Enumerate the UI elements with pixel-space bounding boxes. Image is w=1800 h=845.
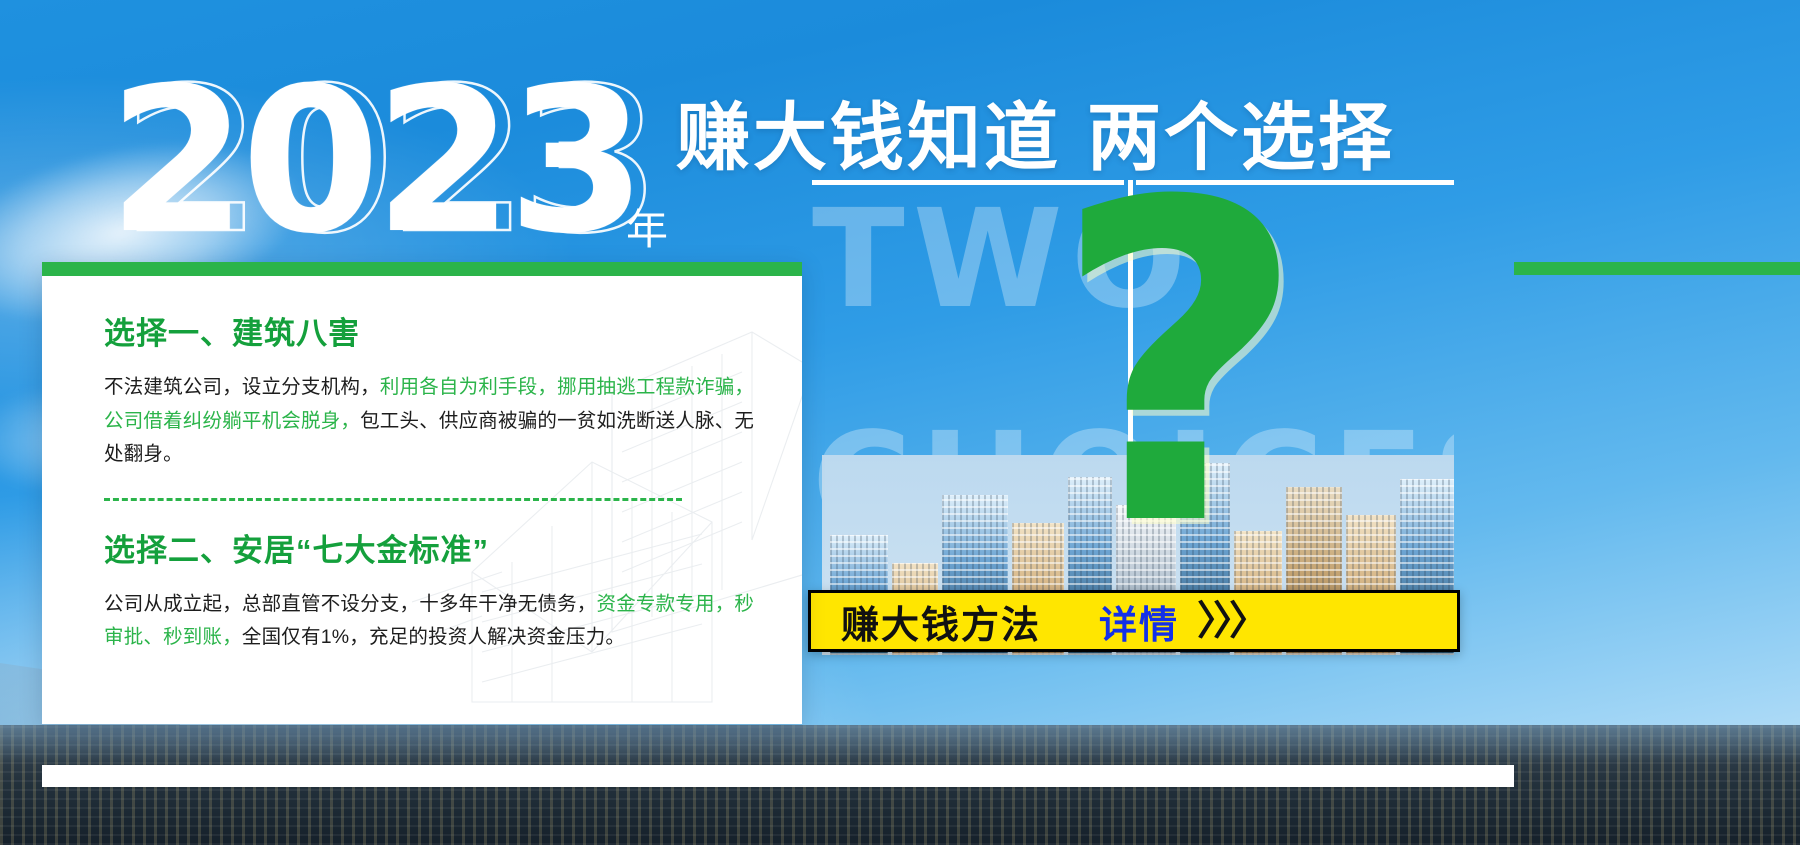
cta-detail-link[interactable]: 详情 xyxy=(1099,594,1179,649)
year-numeral: 2023 xyxy=(108,62,641,262)
green-accent-edge xyxy=(1514,262,1800,275)
cta-banner[interactable]: 赚大钱方法 详情 〉〉〉 xyxy=(808,590,1460,652)
chevron-right-icon: 〉〉〉 xyxy=(1197,601,1265,641)
section-divider xyxy=(104,498,682,501)
section-two-text-a: 公司从成立起，总部直管不设分支，十多年干净无债务， xyxy=(104,593,597,615)
right-visual-panel: TWO CHOICES ? xyxy=(812,185,1454,655)
headline-part-two: 两个选择 xyxy=(1087,96,1395,179)
section-two-body: 公司从成立起，总部直管不设分支，十多年干净无债务，资金专款专用，秒审批、秒到账，… xyxy=(104,588,768,655)
section-one-title: 选择一、建筑八害 xyxy=(104,308,768,353)
section-one-body: 不法建筑公司，设立分支机构，利用各自为利手段，挪用抽逃工程款诈骗，公司借着纠纷躺… xyxy=(104,371,768,472)
section-two-text-b: 全国仅有1%，充足的投资人解决资金压力。 xyxy=(242,626,625,648)
section-one-text-a: 不法建筑公司，设立分支机构， xyxy=(104,376,380,398)
year-suffix-label: 年 xyxy=(626,196,668,257)
headline-part-one: 赚大钱知道 xyxy=(676,96,1061,179)
page-title: 赚大钱知道两个选择 xyxy=(676,78,1395,185)
question-mark-graphic: ? xyxy=(1052,195,1307,538)
card-top-accent-bar xyxy=(42,262,802,276)
section-two-title: 选择二、安居“七大金标准” xyxy=(104,525,768,570)
content-card: 选择一、建筑八害 不法建筑公司，设立分支机构，利用各自为利手段，挪用抽逃工程款诈… xyxy=(42,262,802,724)
bottom-white-band xyxy=(42,765,1514,787)
banner-stage: 2023 2023 年 赚大钱知道两个选择 TWO CHOICES ? xyxy=(0,0,1800,845)
cta-main-label: 赚大钱方法 xyxy=(841,594,1041,649)
card-body: 选择一、建筑八害 不法建筑公司，设立分支机构，利用各自为利手段，挪用抽逃工程款诈… xyxy=(104,308,768,655)
